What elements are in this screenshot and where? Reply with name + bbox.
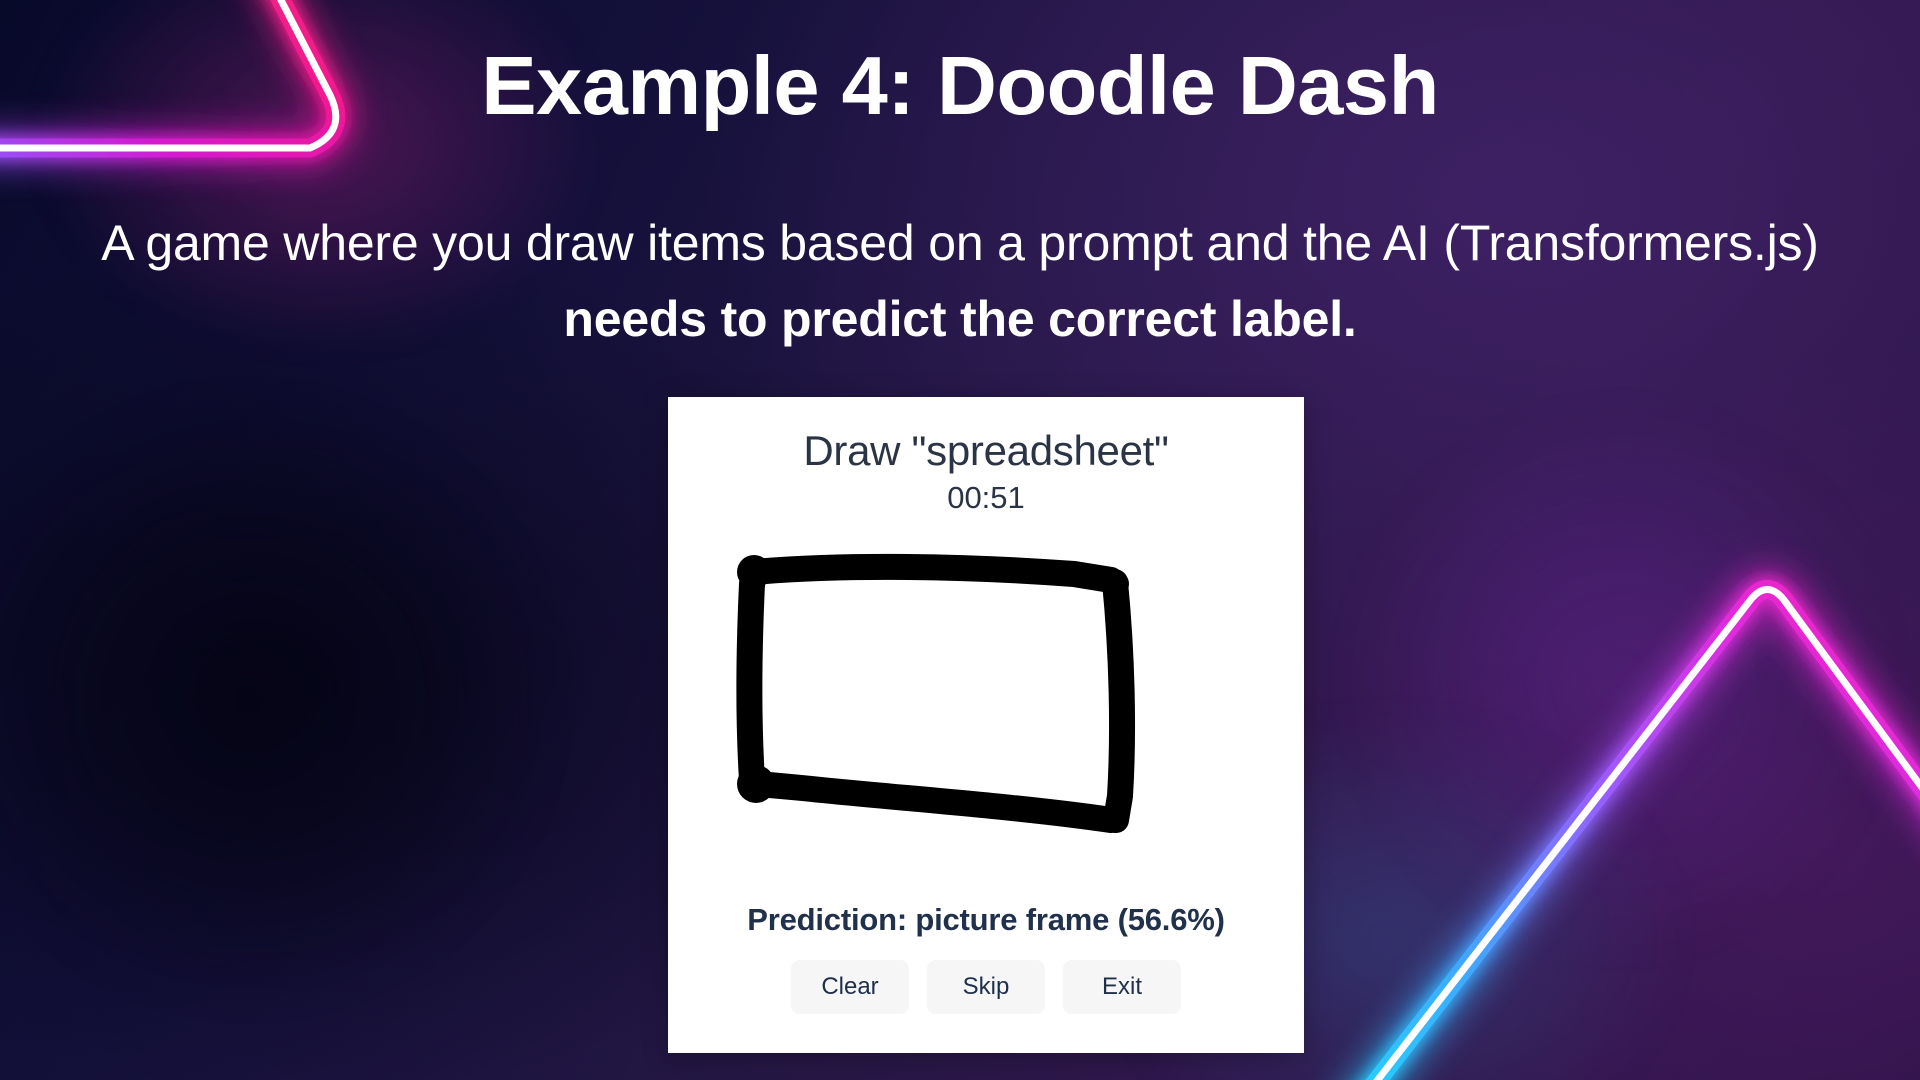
prediction-text: Prediction: picture frame (56.6%): [747, 902, 1224, 938]
game-button-row: Clear Skip Exit: [791, 960, 1181, 1014]
draw-prompt: Draw "spreadsheet": [803, 427, 1168, 475]
drawing-canvas[interactable]: [706, 544, 1266, 864]
subtitle-bold-text: needs to predict the correct label.: [563, 291, 1356, 347]
slide-subtitle: A game where you draw items based on a p…: [50, 205, 1870, 357]
exit-button[interactable]: Exit: [1063, 960, 1181, 1014]
doodle-dash-game-card: Draw "spreadsheet" 00:51: [668, 397, 1304, 1053]
countdown-timer: 00:51: [947, 480, 1025, 516]
slide-title: Example 4: Doodle Dash: [0, 44, 1920, 127]
subtitle-regular-text: A game where you draw items based on a p…: [101, 215, 1818, 271]
slide-canvas: Example 4: Doodle Dash A game where you …: [0, 0, 1920, 1080]
clear-button[interactable]: Clear: [791, 960, 909, 1014]
doodle-rectangle-drawing: [706, 544, 1266, 864]
skip-button[interactable]: Skip: [927, 960, 1045, 1014]
